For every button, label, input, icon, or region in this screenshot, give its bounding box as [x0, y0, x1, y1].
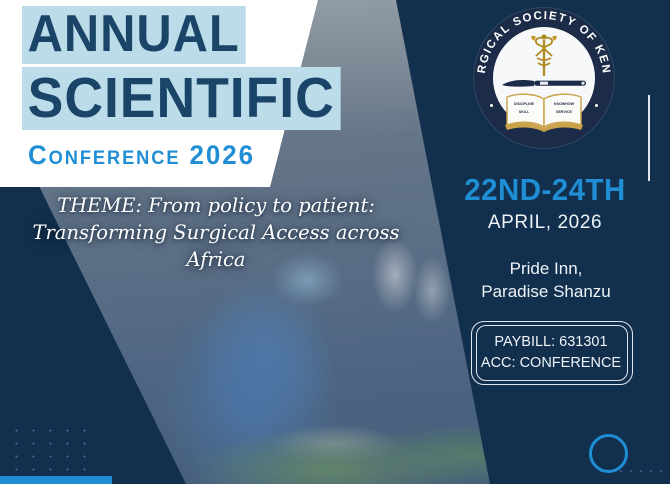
conference-poster: ANNUAL SCIENTIFIC Conference 2026 THEME:…	[0, 0, 670, 484]
paybill-details: PAYBILL: 631301 ACC: CONFERENCE	[471, 332, 631, 374]
book-left-page: DISCIPLINE SKILL	[508, 100, 540, 117]
headline-block: ANNUAL SCIENTIFIC Conference 2026	[22, 6, 332, 171]
event-month-year: APRIL, 2026	[452, 212, 638, 234]
bottom-accent-bar	[0, 476, 112, 484]
headline-line-conference: Conference 2026	[28, 140, 320, 171]
book-left-line1: DISCIPLINE	[508, 100, 540, 108]
book-right-page: KNOWHOW SERVICE	[548, 100, 580, 117]
event-venue: Pride Inn, Paradise Shanzu	[448, 258, 644, 304]
circle-ring-decoration	[589, 434, 628, 473]
book-right-line1: KNOWHOW	[548, 100, 580, 108]
scalpel-icon	[500, 78, 588, 89]
vertical-accent-line	[648, 95, 650, 181]
event-dates: 22ND-24TH	[457, 172, 634, 208]
paybill-account: ACC: CONFERENCE	[471, 353, 631, 374]
headline-line-scientific: SCIENTIFIC	[22, 67, 340, 130]
book-text: DISCIPLINE SKILL KNOWHOW SERVICE	[508, 100, 580, 117]
logo-dot-left	[490, 104, 493, 107]
venue-line-1: Pride Inn,	[448, 258, 644, 281]
caduceus-icon	[527, 32, 561, 78]
book-right-line2: SERVICE	[548, 108, 580, 116]
venue-line-2: Paradise Shanzu	[448, 281, 644, 304]
logo-dot-right	[595, 104, 598, 107]
headline-line-annual: ANNUAL	[22, 6, 245, 64]
conference-theme: THEME: From policy to patient: Transform…	[12, 193, 420, 274]
society-logo: SURGICAL SOCIETY OF KENYA	[474, 8, 614, 148]
book-left-line2: SKILL	[508, 108, 540, 116]
dot-grid-decoration-left	[8, 424, 88, 476]
paybill-number: PAYBILL: 631301	[471, 332, 631, 353]
